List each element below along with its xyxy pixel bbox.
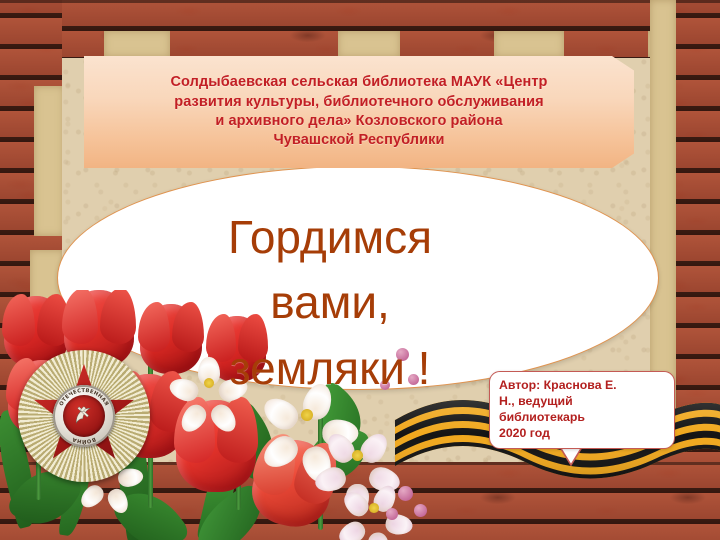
- blossom-petal: [355, 428, 392, 467]
- blossom-center: [301, 409, 314, 422]
- brick-gap: [104, 31, 170, 57]
- blossom-center: [204, 378, 214, 388]
- order-of-the-patriotic-war-medal: ОТЕЧЕСТВЕННАЯ ВОЙНА: [18, 350, 150, 482]
- organization-line-1: Солдыбаевская сельская библиотека МАУК «…: [98, 73, 620, 92]
- organization-line-2: развития культуры, библиотечного обслужи…: [98, 93, 620, 112]
- blossom-petal: [366, 531, 391, 540]
- presentation-slide: Солдыбаевская сельская библиотека МАУК «…: [0, 0, 720, 540]
- organization-line-3: и архивного дела» Козловского района: [98, 112, 620, 131]
- author-credit-line-2: Н., ведущий: [499, 393, 667, 409]
- tulip-petal: [62, 290, 98, 344]
- organization-line-4: Чувашской Республики: [98, 131, 620, 150]
- tulip-petal: [2, 294, 35, 346]
- brick-gap: [34, 86, 62, 236]
- blossom-petal: [339, 487, 373, 520]
- blossom-center: [352, 450, 363, 461]
- organization-banner-text: Солдыбаевская сельская библиотека МАУК «…: [84, 73, 634, 150]
- author-credit-line-1: Автор: Краснова Е.: [499, 377, 667, 393]
- tulip-petal: [138, 302, 170, 352]
- callout-tail: [556, 446, 586, 466]
- blossom-petal: [335, 518, 369, 540]
- brick-wall-top: [0, 0, 720, 58]
- flower-bud: [380, 380, 390, 390]
- apple-blossom: [278, 386, 336, 444]
- blossom-center: [369, 503, 379, 513]
- author-credit: Автор: Краснова Е. Н., ведущий библиотек…: [489, 371, 675, 449]
- medal-inscription-bottom: ВОЙНА: [72, 436, 97, 446]
- flower-bud: [396, 348, 409, 361]
- author-credit-line-4: 2020 год: [499, 425, 667, 441]
- brick-gap: [494, 31, 564, 57]
- flower-bud: [408, 374, 419, 385]
- author-credit-line-3: библиотекарь: [499, 409, 667, 425]
- apple-blossom: [186, 360, 232, 406]
- brick-gap: [338, 31, 400, 57]
- organization-banner: Солдыбаевская сельская библиотека МАУК «…: [84, 56, 634, 168]
- apple-blossom: [332, 430, 382, 480]
- hammer-and-sickle-icon: [71, 403, 97, 429]
- brick-gap: [650, 0, 676, 420]
